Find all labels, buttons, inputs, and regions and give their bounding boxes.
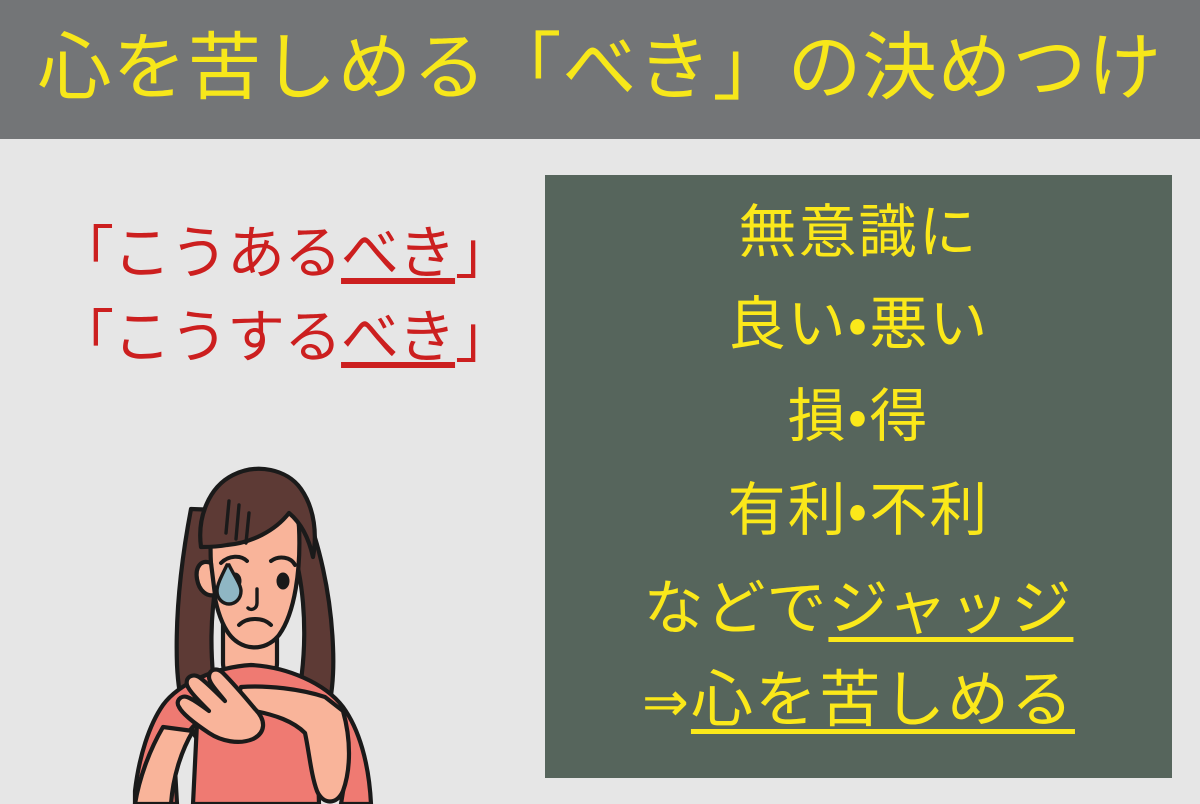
quote-2-open: 「こう xyxy=(56,303,227,371)
left-content-column: 「こうあるべき」 「こうするべき」 xyxy=(0,139,545,800)
panel-line-2-post: 良い・悪い xyxy=(728,290,990,358)
page-title: 心を苦しめる「べき」の決めつけ xyxy=(38,31,1163,109)
quote-1-open: 「こう xyxy=(56,219,227,287)
panel-line-5-pre: などで xyxy=(644,574,829,644)
double-arrow-right-icon: ⇒ xyxy=(642,670,691,735)
quote-2-plain: する xyxy=(227,303,341,371)
judgment-panel: 無意識に 良い・悪い 損・得 有利・不利 などでジャッジ ⇒心を苦しめる xyxy=(545,175,1172,778)
panel-line-4-post: 有利・不利 xyxy=(728,476,990,544)
panel-line-6: ⇒心を苦しめる xyxy=(642,669,1075,731)
panel-line-3-post: 損・得 xyxy=(788,382,930,450)
header-banner: 心を苦しめる「べき」の決めつけ xyxy=(0,0,1200,139)
quote-2-close: 」 xyxy=(455,303,512,371)
quote-1-close: 」 xyxy=(455,219,512,287)
left-arm xyxy=(135,727,193,804)
quote-list: 「こうあるべき」 「こうするべき」 xyxy=(56,211,516,379)
panel-line-3: 損・得 xyxy=(788,387,930,445)
panel-line-6-underlined: 心を苦しめる xyxy=(691,663,1075,736)
quote-1-underlined: べき xyxy=(341,219,455,287)
worried-woman-illustration xyxy=(105,439,395,804)
panel-line-5-underlined: ジャッジ xyxy=(828,574,1073,644)
eye-right xyxy=(277,573,290,590)
quote-line-1: 「こうあるべき」 xyxy=(56,211,516,295)
quote-1-plain: ある xyxy=(227,219,341,287)
quote-2-underlined: べき xyxy=(341,303,455,371)
panel-line-1: 無意識に xyxy=(738,203,978,261)
panel-line-2: 良い・悪い xyxy=(728,295,990,353)
ear xyxy=(197,562,215,595)
quote-line-2: 「こうするべき」 xyxy=(56,295,516,379)
panel-line-5: などでジャッジ xyxy=(644,579,1074,639)
panel-line-4: 有利・不利 xyxy=(728,481,990,539)
panel-line-1-post: 無意識に xyxy=(738,198,978,266)
